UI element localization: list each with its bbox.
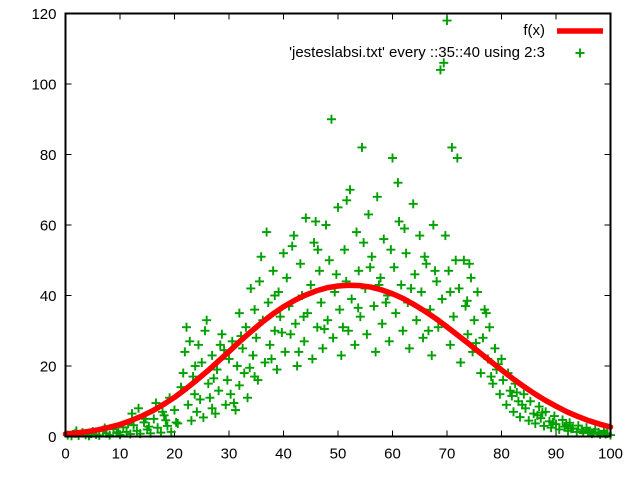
x-tick-label-80: 80 <box>493 446 510 463</box>
plot-canvas: 020406080100120 0102030405060708090100 f… <box>0 0 640 480</box>
y-tick-label-120: 120 <box>31 6 56 23</box>
x-tick-label-70: 70 <box>439 446 456 463</box>
y-tick-label-60: 60 <box>40 218 57 235</box>
x-tick-label-10: 10 <box>112 446 129 463</box>
x-tick-label-20: 20 <box>166 446 183 463</box>
canvas-background <box>0 0 640 480</box>
x-tick-label-100: 100 <box>598 446 623 463</box>
x-tick-label-90: 90 <box>548 446 565 463</box>
gnuplot-graph-window: 020406080100120 0102030405060708090100 f… <box>0 0 640 480</box>
x-tick-label-30: 30 <box>221 446 238 463</box>
y-tick-label-40: 40 <box>40 288 57 305</box>
x-tick-label-50: 50 <box>330 446 347 463</box>
x-tick-label-40: 40 <box>275 446 292 463</box>
y-tick-label-20: 20 <box>40 359 57 376</box>
legend-label-fx: f(x) <box>523 22 545 39</box>
legend-label-datafile: 'jesteslabsi.txt' every ::35::40 using 2… <box>289 44 545 61</box>
y-tick-label-100: 100 <box>31 77 56 94</box>
y-tick-label-0: 0 <box>48 429 56 446</box>
y-tick-label-80: 80 <box>40 147 57 164</box>
x-tick-label-0: 0 <box>61 446 69 463</box>
x-tick-label-60: 60 <box>384 446 401 463</box>
